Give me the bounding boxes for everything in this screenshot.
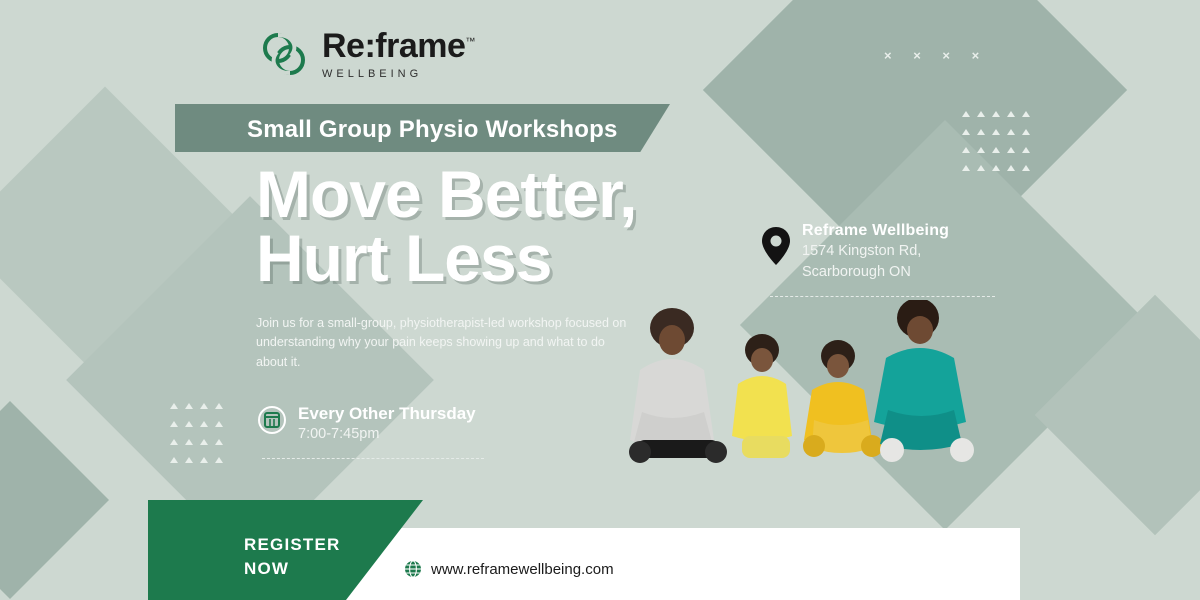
schedule-frequency: Every Other Thursday bbox=[298, 404, 476, 424]
participants-photo bbox=[600, 300, 1010, 480]
register-label-line-1: REGISTER bbox=[244, 533, 341, 558]
location-address-line-1: 1574 Kingston Rd, bbox=[802, 242, 949, 261]
spiral-logo-icon bbox=[258, 28, 310, 80]
globe-icon bbox=[404, 560, 422, 578]
x-mark-decoration: × × × × bbox=[884, 48, 988, 63]
location-address-line-2: Scarborough ON bbox=[802, 263, 949, 282]
triangle-grid-right bbox=[962, 110, 1052, 182]
register-button-label[interactable]: REGISTER NOW bbox=[244, 533, 341, 582]
logo-name: Re:frame bbox=[322, 27, 465, 65]
location-divider bbox=[770, 296, 995, 297]
brand-logo: Re:frame™ WELLBEING bbox=[258, 28, 475, 80]
headline-line-2: Hurt Less bbox=[256, 226, 636, 290]
schedule-divider bbox=[262, 458, 484, 459]
description-text: Join us for a small-group, physiotherapi… bbox=[256, 314, 636, 372]
register-label-line-2: NOW bbox=[244, 557, 341, 582]
website-link[interactable]: www.reframewellbeing.com bbox=[404, 560, 614, 578]
logo-tagline: WELLBEING bbox=[322, 68, 475, 80]
schedule-time: 7:00-7:45pm bbox=[298, 426, 476, 442]
schedule-block: Every Other Thursday 7:00-7:45pm bbox=[258, 404, 476, 442]
logo-wordmark: Re:frame™ bbox=[322, 29, 475, 63]
website-url: www.reframewellbeing.com bbox=[431, 561, 614, 578]
trademark-symbol: ™ bbox=[465, 36, 475, 47]
page-title: Move Better, Hurt Less bbox=[256, 162, 636, 290]
map-pin-icon bbox=[760, 226, 792, 266]
location-block: Reframe Wellbeing 1574 Kingston Rd, Scar… bbox=[760, 222, 949, 282]
headline-line-1: Move Better, bbox=[256, 162, 636, 226]
bg-diamond-bottom-left bbox=[0, 401, 109, 599]
calendar-icon bbox=[258, 406, 286, 434]
location-title: Reframe Wellbeing bbox=[802, 222, 949, 240]
triangle-grid-left bbox=[170, 402, 250, 474]
eyebrow-label: Small Group Physio Workshops bbox=[247, 116, 618, 144]
